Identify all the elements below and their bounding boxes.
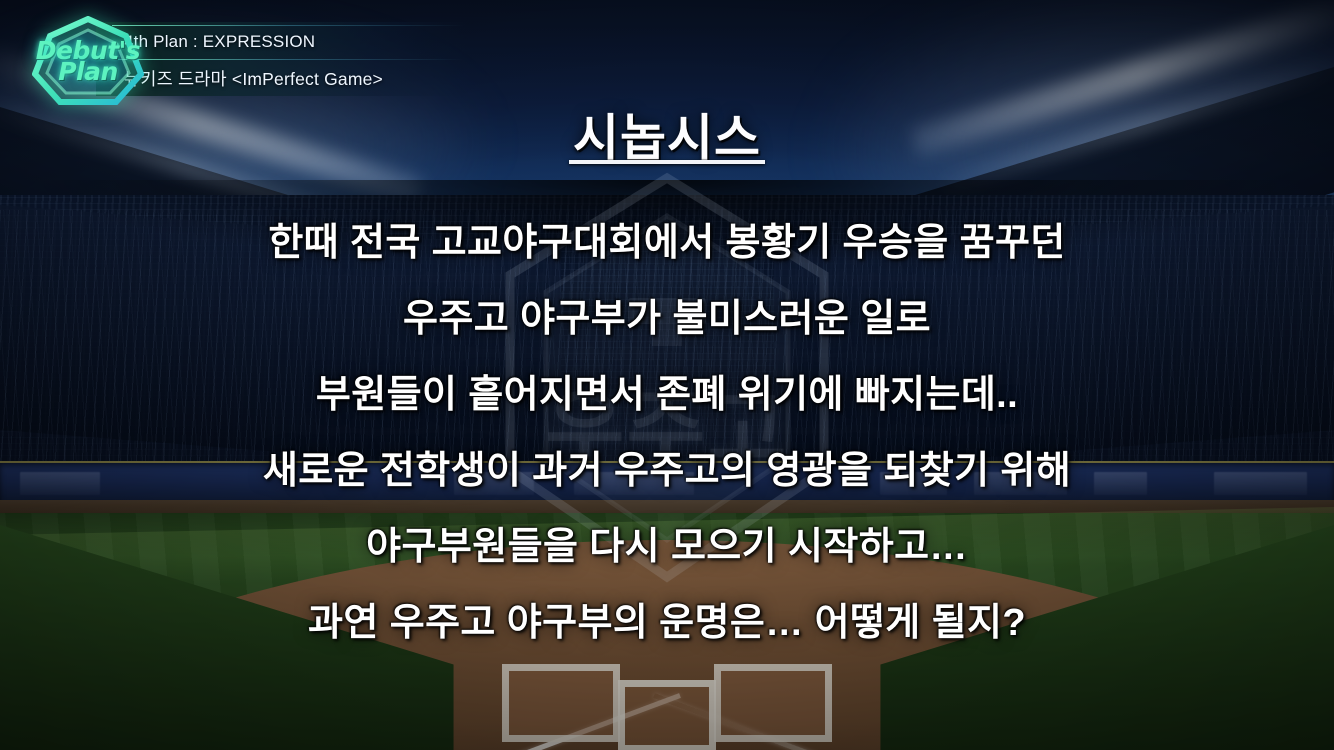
- synopsis-slide: 우주고 4th Plan : EXPRESSION 뉴키즈 드라마 <ImPer…: [0, 0, 1334, 750]
- synopsis-line: 야구부원들을 다시 모으기 시작하고…: [366, 509, 968, 585]
- synopsis-line: 새로운 전학생이 과거 우주고의 영광을 되찾기 위해: [263, 433, 1071, 509]
- header-divider-top: [112, 25, 464, 26]
- header-drama-label: 뉴키즈 드라마 <ImPerfect Game>: [124, 66, 383, 91]
- synopsis-line: 우주고 야구부가 불미스러운 일로: [403, 281, 931, 357]
- synopsis-line: 한때 전국 고교야구대회에서 봉황기 우승을 꿈꾸던: [268, 205, 1065, 281]
- header-divider-middle: [112, 59, 464, 60]
- synopsis-line: 과연 우주고 야구부의 운명은… 어떻게 될지?: [308, 585, 1026, 661]
- synopsis-body: 한때 전국 고교야구대회에서 봉황기 우승을 꿈꾸던 우주고 야구부가 불미스러…: [0, 205, 1334, 661]
- synopsis-line: 부원들이 흩어지면서 존폐 위기에 빠지는데..: [316, 357, 1018, 433]
- debuts-plan-logo: Debut's Plan: [32, 16, 144, 106]
- title-underline: [569, 160, 765, 164]
- header-plan-label: 4th Plan : EXPRESSION: [124, 32, 315, 52]
